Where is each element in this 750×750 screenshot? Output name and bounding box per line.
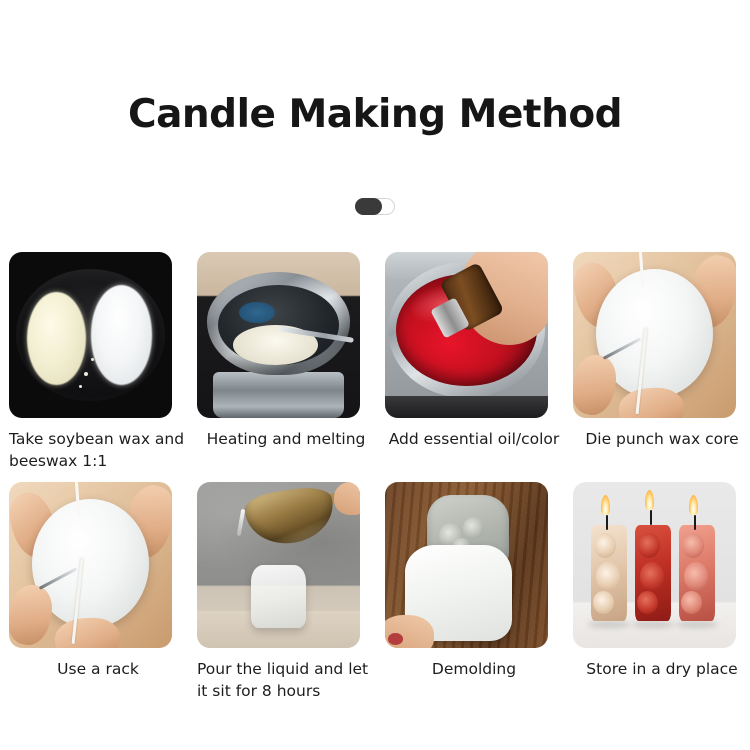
step-card-6[interactable]: Pour the liquid and let it sit for 8 hou… <box>197 482 375 702</box>
wax-speck <box>84 372 88 376</box>
step-card-2[interactable]: Heating and melting <box>197 252 375 472</box>
candle-wick <box>650 510 652 525</box>
step-image-3 <box>385 252 548 418</box>
step-image-5 <box>9 482 172 648</box>
wax-speck <box>91 358 94 361</box>
soybean-wax-heap <box>27 292 86 385</box>
step-caption-5: Use a rack <box>9 658 187 680</box>
flame-icon <box>689 495 698 515</box>
candle-cream <box>591 525 627 621</box>
rose-relief <box>640 562 664 591</box>
beeswax-heap <box>91 285 153 385</box>
flame-icon <box>601 495 610 515</box>
step-image-4 <box>573 252 736 418</box>
candle-shadow <box>676 621 718 628</box>
silicone-mold-shape <box>251 565 306 628</box>
stove-surface <box>385 396 548 418</box>
step-image-1 <box>9 252 172 418</box>
flame-icon <box>645 490 654 510</box>
pot-base-shape <box>213 372 343 418</box>
step-caption-7: Demolding <box>385 658 563 680</box>
step-card-7[interactable]: Demolding <box>385 482 563 702</box>
candle-shadow <box>588 621 630 628</box>
rose-relief <box>682 533 704 558</box>
infographic-page: Candle Making Method Take soybean wax an… <box>0 0 750 750</box>
rose-relief <box>638 533 660 558</box>
rose-relief <box>594 533 616 558</box>
step-image-7 <box>385 482 548 648</box>
page-title: Candle Making Method <box>0 92 750 137</box>
candle-salmon <box>679 525 715 621</box>
rose-relief <box>596 562 620 591</box>
step-image-8 <box>573 482 736 648</box>
rose-relief <box>637 591 658 614</box>
rose-relief <box>593 591 614 614</box>
hand-shape <box>334 482 360 515</box>
step-caption-6: Pour the liquid and let it sit for 8 hou… <box>197 658 375 702</box>
step-caption-1: Take soybean wax and beeswax 1:1 <box>9 428 187 472</box>
step-card-3[interactable]: Add essential oil/color <box>385 252 563 472</box>
step-card-4[interactable]: Die punch wax core <box>573 252 750 472</box>
candle-wick <box>606 515 608 530</box>
steps-grid: Take soybean wax and beeswax 1:1 Heating… <box>9 252 750 702</box>
step-card-5[interactable]: Use a rack <box>9 482 187 702</box>
rose-relief <box>681 591 702 614</box>
step-image-6 <box>197 482 360 648</box>
rose-relief <box>463 517 484 539</box>
divider <box>0 198 750 215</box>
candle-wick <box>694 515 696 530</box>
toggle-ornament-icon <box>355 198 395 215</box>
step-caption-3: Add essential oil/color <box>385 428 563 450</box>
step-card-8[interactable]: Store in a dry place <box>573 482 750 702</box>
rose-relief <box>684 562 708 591</box>
fingernail-shape <box>388 633 403 645</box>
step-card-1[interactable]: Take soybean wax and beeswax 1:1 <box>9 252 187 472</box>
toggle-knob <box>355 198 382 215</box>
step-caption-2: Heating and melting <box>197 428 375 450</box>
candle-red <box>635 525 671 621</box>
candle-shadow <box>632 621 674 628</box>
step-image-2 <box>197 252 360 418</box>
step-caption-4: Die punch wax core <box>573 428 750 450</box>
wax-speck <box>79 385 82 388</box>
step-caption-8: Store in a dry place <box>573 658 750 680</box>
